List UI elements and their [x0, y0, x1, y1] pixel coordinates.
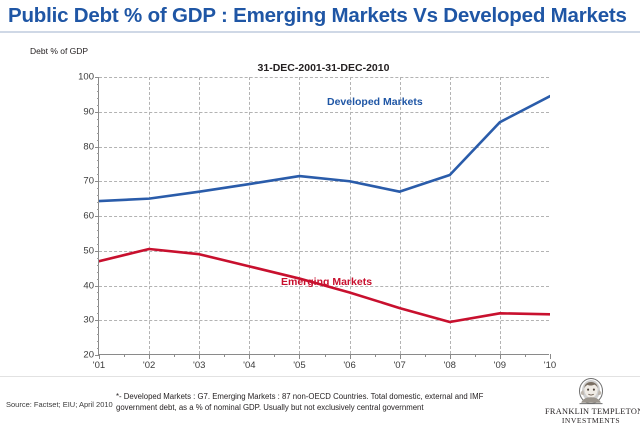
y-axis-minor-tick [97, 209, 99, 210]
y-axis-tick-label: 100 [78, 72, 94, 83]
x-axis-tick-label: '05 [293, 360, 305, 371]
x-axis-minor-tick [174, 354, 175, 357]
y-axis-minor-tick [97, 279, 99, 280]
y-axis-tick-mark [95, 216, 99, 217]
x-axis-tick-mark [400, 354, 401, 359]
franklin-templeton-logo: FRANKLIN TEMPLETON INVESTMENTS [545, 378, 637, 428]
x-axis-tick-label: '06 [343, 360, 355, 371]
logo-wordmark: FRANKLIN TEMPLETON [545, 407, 637, 416]
y-axis-minor-tick [97, 188, 99, 189]
franklin-portrait-icon [574, 378, 608, 406]
annotation-layer: Developed Markets Emerging Markets [99, 77, 549, 354]
source-note: Source: Factset; EIU; April 2010 [6, 400, 113, 409]
x-axis-tick-label: '07 [393, 360, 405, 371]
logo-subtitle: INVESTMENTS [545, 416, 637, 425]
y-axis-tick-label: 70 [83, 176, 94, 187]
y-axis-tick-mark [95, 320, 99, 321]
y-axis-minor-tick [97, 133, 99, 134]
x-axis-tick-label: '09 [494, 360, 506, 371]
x-axis-tick-mark [249, 354, 250, 359]
x-axis-minor-tick [525, 354, 526, 357]
x-axis-tick-mark [99, 354, 100, 359]
y-axis-minor-tick [97, 244, 99, 245]
y-axis-tick-mark [95, 112, 99, 113]
y-axis-minor-tick [97, 327, 99, 328]
x-axis-minor-tick [375, 354, 376, 357]
y-axis-minor-tick [97, 272, 99, 273]
y-axis-tick-label: 60 [83, 211, 94, 222]
y-axis-minor-tick [97, 265, 99, 266]
x-axis-minor-tick [274, 354, 275, 357]
y-axis-tick-label: 40 [83, 280, 94, 291]
y-axis-minor-tick [97, 126, 99, 127]
x-axis-tick-mark [350, 354, 351, 359]
x-axis-tick-label: '04 [243, 360, 255, 371]
y-axis-minor-tick [97, 160, 99, 161]
chart-plot-area: Developed Markets Emerging Markets 20304… [98, 77, 549, 355]
y-axis-minor-tick [97, 202, 99, 203]
y-axis-minor-tick [97, 341, 99, 342]
y-axis-tick-mark [95, 251, 99, 252]
x-axis-tick-mark [550, 354, 551, 359]
y-axis-tick-label: 90 [83, 106, 94, 117]
y-axis-minor-tick [97, 258, 99, 259]
series-label-developed-markets: Developed Markets [327, 96, 423, 108]
y-axis-tick-mark [95, 181, 99, 182]
x-axis-tick-label: '10 [544, 360, 556, 371]
y-axis-tick-mark [95, 147, 99, 148]
y-axis-minor-tick [97, 334, 99, 335]
x-axis-tick-label: '08 [444, 360, 456, 371]
x-axis-minor-tick [425, 354, 426, 357]
y-axis-minor-tick [97, 292, 99, 293]
x-axis-tick-mark [149, 354, 150, 359]
y-axis-minor-tick [97, 167, 99, 168]
y-axis-minor-tick [97, 230, 99, 231]
x-axis-tick-mark [450, 354, 451, 359]
y-axis-minor-tick [97, 153, 99, 154]
chart-subtitle: 31-DEC-2001-31-DEC-2010 [98, 62, 549, 74]
y-axis-caption: Debt % of GDP [30, 46, 88, 56]
y-axis-minor-tick [97, 313, 99, 314]
x-axis-tick-label: '02 [143, 360, 155, 371]
x-axis-minor-tick [224, 354, 225, 357]
page-title: Public Debt % of GDP : Emerging Markets … [8, 4, 632, 28]
x-axis-tick-label: '01 [93, 360, 105, 371]
y-axis-tick-label: 80 [83, 141, 94, 152]
y-axis-minor-tick [97, 223, 99, 224]
x-axis-minor-tick [475, 354, 476, 357]
series-label-emerging-markets: Emerging Markets [281, 276, 372, 288]
y-axis-minor-tick [97, 195, 99, 196]
y-axis-minor-tick [97, 348, 99, 349]
footnote-text: *- Developed Markets : G7. Emerging Mark… [116, 392, 516, 413]
y-axis-minor-tick [97, 306, 99, 307]
y-axis-tick-mark [95, 286, 99, 287]
y-axis-minor-tick [97, 98, 99, 99]
y-axis-minor-tick [97, 84, 99, 85]
title-divider [0, 31, 640, 33]
x-axis-tick-label: '03 [193, 360, 205, 371]
y-axis-minor-tick [97, 140, 99, 141]
y-axis-minor-tick [97, 105, 99, 106]
y-axis-tick-label: 50 [83, 245, 94, 256]
x-axis-minor-tick [325, 354, 326, 357]
y-axis-tick-label: 30 [83, 315, 94, 326]
y-axis-minor-tick [97, 119, 99, 120]
y-axis-tick-label: 20 [83, 350, 94, 361]
footer-divider [0, 376, 640, 377]
y-axis-minor-tick [97, 91, 99, 92]
x-axis-minor-tick [124, 354, 125, 357]
y-axis-minor-tick [97, 299, 99, 300]
x-axis-tick-mark [500, 354, 501, 359]
y-axis-minor-tick [97, 237, 99, 238]
x-axis-tick-mark [299, 354, 300, 359]
y-axis-tick-mark [95, 77, 99, 78]
y-axis-minor-tick [97, 174, 99, 175]
x-axis-tick-mark [199, 354, 200, 359]
